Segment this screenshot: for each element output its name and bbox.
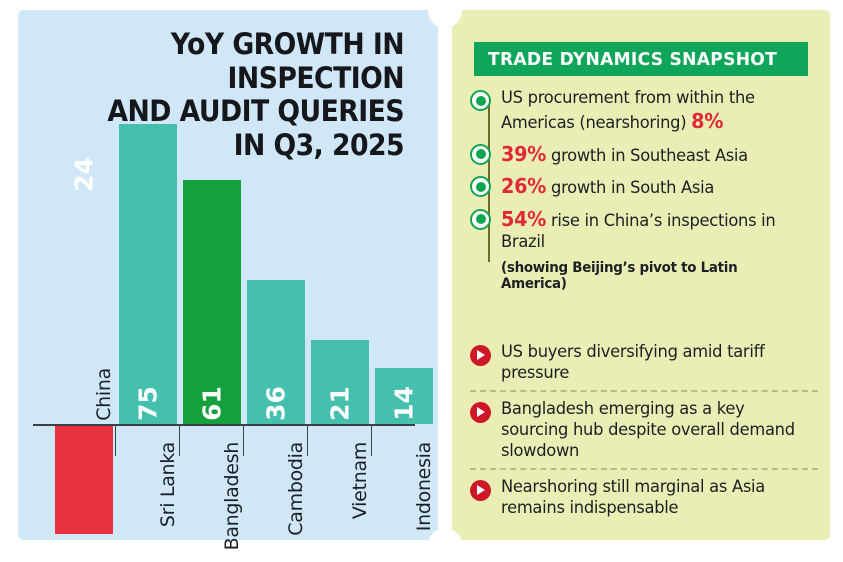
bar-group: 24China	[55, 120, 113, 530]
bullet-text: Nearshoring still marginal as Asia remai…	[501, 477, 805, 519]
bar-category-label: Sri Lanka	[157, 442, 179, 527]
perforation-dots	[443, 10, 447, 540]
page-title-line-1: YoY GROWTH IN INSPECTION	[53, 28, 404, 95]
chevron-right-icon	[470, 402, 491, 423]
bullet-item: Bangladesh emerging as a key sourcing hu…	[470, 390, 818, 468]
bar-value-label: 36	[262, 386, 291, 421]
chevron-right-icon	[470, 345, 491, 366]
bar-category-label: Vietnam	[349, 442, 371, 519]
stat-percent: 8%	[691, 109, 723, 133]
axis-tick	[307, 426, 308, 456]
bullet-ring-icon	[470, 90, 491, 111]
stat-list: US procurement from within the Americas …	[470, 88, 818, 292]
stat-text: 54% rise in China’s inspections in Brazi…	[501, 207, 805, 254]
stat-text-after: growth in South Asia	[546, 178, 714, 198]
snapshot-header-label: TRADE DYNAMICS SNAPSHOT	[488, 49, 777, 70]
bullet-ring-icon	[470, 209, 491, 230]
bar	[55, 426, 113, 534]
bar-value-label: 75	[134, 386, 163, 421]
stat-subnote: (showing Beijing’s pivot to Latin Americ…	[501, 260, 805, 292]
stat-percent: 39%	[501, 142, 546, 166]
stat-text: US procurement from within the Americas …	[501, 88, 805, 135]
bar-value-label: 61	[198, 386, 227, 421]
bar-group: 36Cambodia	[247, 120, 305, 530]
bar-group: 21Vietnam	[311, 120, 369, 530]
stat-item: US procurement from within the Americas …	[470, 88, 818, 135]
bullet-ring-icon	[470, 144, 491, 165]
stat-item: 39% growth in Southeast Asia	[470, 142, 818, 167]
bar-value-label: 21	[326, 386, 355, 421]
axis-tick	[179, 426, 180, 456]
stat-text: 26% growth in South Asia	[501, 174, 714, 199]
chevron-right-icon	[470, 480, 491, 501]
chart-bars: 24China75Sri Lanka61Bangladesh36Cambodia…	[33, 120, 415, 530]
bar-chart: 24China75Sri Lanka61Bangladesh36Cambodia…	[33, 120, 423, 530]
stat-text: 39% growth in Southeast Asia	[501, 142, 748, 167]
bar-group: 14Indonesia	[375, 120, 433, 530]
snapshot-header: TRADE DYNAMICS SNAPSHOT	[474, 42, 808, 76]
bullet-item: Nearshoring still marginal as Asia remai…	[470, 468, 818, 525]
stat-text-after: growth in Southeast Asia	[546, 146, 748, 166]
bullet-list: US buyers diversifying amid tariff press…	[470, 335, 818, 526]
bar-group: 75Sri Lanka	[119, 120, 177, 530]
snapshot-content: TRADE DYNAMICS SNAPSHOT US procurement f…	[452, 10, 830, 540]
bar-category-label: Cambodia	[285, 442, 307, 536]
stat-percent: 26%	[501, 174, 546, 198]
axis-tick	[115, 426, 116, 456]
bullet-text: US buyers diversifying amid tariff press…	[501, 342, 805, 384]
bullet-ring-icon	[470, 176, 491, 197]
bullet-text: Bangladesh emerging as a key sourcing hu…	[501, 399, 805, 462]
bar-group: 61Bangladesh	[183, 120, 241, 530]
bar-value-label: 24	[70, 157, 99, 192]
stat-percent: 54%	[501, 207, 546, 231]
bar-category-label: Indonesia	[413, 442, 435, 531]
infographic-root: YoY GROWTH IN INSPECTION AND AUDIT QUERI…	[0, 0, 843, 555]
stat-item: 54% rise in China’s inspections in Brazi…	[470, 207, 818, 254]
bar-category-label: China	[93, 368, 115, 421]
bar	[119, 124, 177, 424]
axis-tick	[371, 426, 372, 456]
bar-value-label: 14	[390, 386, 419, 421]
axis-tick	[243, 426, 244, 456]
stat-item: 26% growth in South Asia	[470, 174, 818, 199]
bullet-item: US buyers diversifying amid tariff press…	[470, 335, 818, 390]
bar-category-label: Bangladesh	[221, 442, 243, 550]
